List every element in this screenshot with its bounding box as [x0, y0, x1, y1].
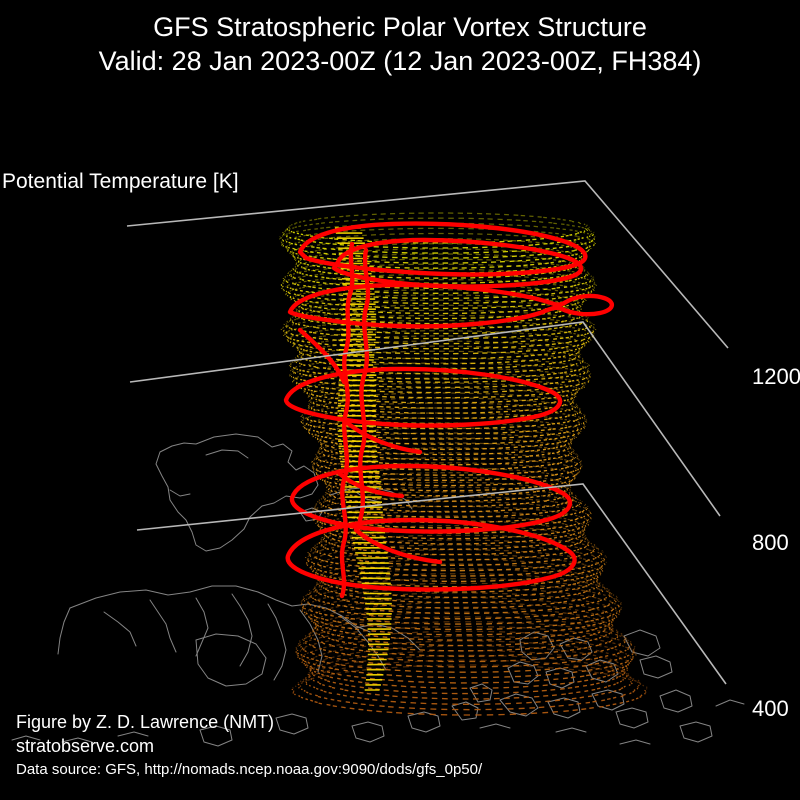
polar-vortex-3d-plot — [0, 0, 800, 800]
credit-author: Figure by Z. D. Lawrence (NMT) — [16, 712, 274, 733]
credit-data-source: Data source: GFS, http://nomads.ncep.noa… — [16, 761, 482, 778]
credit-site: stratobserve.com — [16, 736, 154, 757]
vertical-axis-label: Potential Temperature [K] — [2, 170, 239, 194]
axis-tick-400: 400 — [752, 696, 789, 722]
axis-tick-800: 800 — [752, 530, 789, 556]
figure-canvas: GFS Stratospheric Polar Vortex Structure… — [0, 0, 800, 800]
axis-tick-1200: 1200 — [752, 364, 800, 390]
coastline-map — [12, 434, 744, 746]
